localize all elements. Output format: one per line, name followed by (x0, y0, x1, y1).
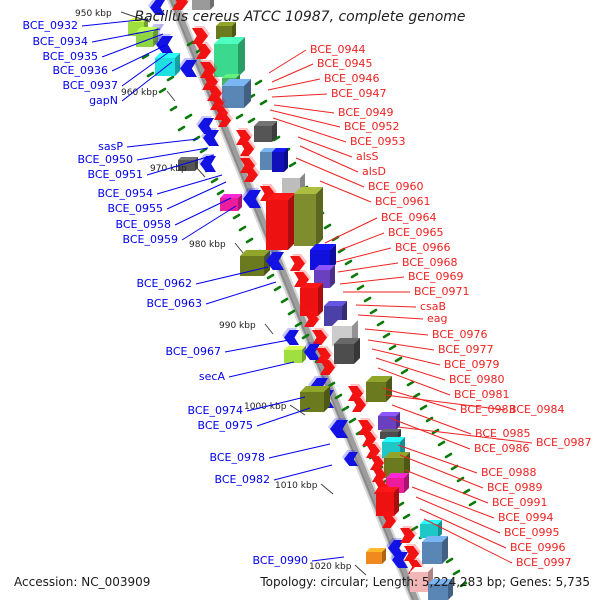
gene-label-right[interactable]: BCE_0991 (492, 496, 547, 509)
ruler-tick-label: 990 kbp (219, 321, 256, 331)
gene-label-left[interactable]: BCE_0978 (210, 451, 265, 464)
strand-tick-icon (346, 261, 351, 264)
gene-label-right-leader-line (365, 329, 428, 335)
gene-label-left[interactable]: BCE_0959 (123, 233, 178, 246)
strand-tick-icon (404, 515, 409, 518)
genome-summary-label: Topology: circular; Length: 5,224,283 bp… (259, 575, 590, 589)
strand-tick-icon (289, 311, 294, 314)
ruler-tick-label: 960 kbp (121, 88, 158, 98)
gene-label-left[interactable]: BCE_0974 (188, 404, 243, 417)
gene-label-left[interactable]: BCE_0934 (33, 35, 88, 48)
strand-tick-icon (256, 81, 261, 84)
genome-map-canvas: 950 kbp960 kbp970 kbp980 kbp990 kbp1000 … (0, 0, 600, 600)
ruler-tick-label: 950 kbp (75, 9, 112, 19)
gene-box-glyph[interactable] (294, 187, 323, 246)
strand-tick-icon (275, 287, 280, 290)
gene-label-right[interactable]: BCE_0964 (381, 211, 436, 224)
gene-label-right[interactable]: BCE_0969 (408, 270, 463, 283)
gene-box-glyph[interactable] (366, 376, 392, 402)
strand-tick-icon (249, 119, 254, 122)
strand-tick-icon (343, 407, 348, 410)
gene-label-right-leader-line (372, 349, 440, 365)
strand-tick-icon (282, 299, 287, 302)
gene-label-left[interactable]: gapN (89, 94, 118, 107)
gene-label-right[interactable]: BCE_0989 (487, 481, 542, 494)
gene-label-right-leader-line (296, 158, 364, 187)
strand-tick-icon (396, 358, 401, 361)
strand-tick-icon (464, 490, 469, 493)
strand-tick-icon (168, 77, 173, 80)
gene-label-right[interactable]: BCE_0961 (375, 195, 430, 208)
strand-tick-icon (186, 115, 191, 118)
strand-tick-icon (402, 370, 407, 373)
gene-arrow-glyph[interactable] (290, 254, 307, 271)
map-title: Bacillus cereus ATCC 10987, complete gen… (134, 9, 465, 25)
gene-label-right[interactable]: BCE_0985 (475, 427, 530, 440)
gene-label-left-leader-line (225, 340, 289, 352)
strand-tick-icon (390, 346, 395, 349)
gene-label-left[interactable]: BCE_0935 (43, 50, 98, 63)
gene-label-left-leader-line (182, 206, 236, 240)
strand-tick-icon (212, 179, 217, 182)
gene-label-left[interactable]: BCE_0982 (215, 473, 270, 486)
gene-label-right[interactable]: BCE_0987 (536, 436, 591, 449)
gene-label-right[interactable]: BCE_0960 (368, 180, 423, 193)
strand-tick-icon (148, 73, 153, 76)
gene-label-left-leader-line (274, 465, 332, 480)
ruler-leader-line (355, 565, 366, 575)
gene-arrow-glyph[interactable] (192, 26, 210, 44)
gene-label-right[interactable]: BCE_0976 (432, 328, 487, 341)
gene-label-right-leader-line (298, 137, 352, 157)
gene-box-glyph[interactable] (300, 386, 330, 412)
gene-label-left[interactable]: BCE_0967 (166, 345, 221, 358)
gene-label-left-leader-line (206, 282, 276, 304)
strand-tick-icon (234, 215, 239, 218)
gene-label-right-leader-line (272, 94, 327, 97)
gene-arrow-glyph[interactable] (352, 396, 368, 412)
gene-label-right[interactable]: BCE_0971 (414, 285, 469, 298)
gene-box-glyph[interactable] (214, 37, 245, 77)
gene-label-right[interactable]: BCE_0988 (481, 466, 536, 479)
strand-tick-icon (371, 310, 376, 313)
gene-label-right-leader-line (358, 315, 423, 319)
gene-box-glyph[interactable] (254, 121, 277, 142)
gene-label-left-leader-line (175, 198, 231, 225)
strand-tick-icon (261, 101, 266, 104)
gene-label-left[interactable]: BCE_0963 (147, 297, 202, 310)
gene-label-left-leader-line (269, 444, 330, 458)
strand-tick-icon (179, 127, 184, 130)
gene-label-right-leader-line (368, 340, 434, 350)
gene-box-glyph[interactable] (220, 194, 242, 211)
gene-label-left[interactable]: BCE_0937 (63, 79, 118, 92)
gene-label-left[interactable]: BCE_0950 (78, 153, 133, 166)
strand-tick-icon (358, 286, 363, 289)
gene-label-left-leader-line (229, 362, 294, 377)
strand-tick-icon (350, 419, 355, 422)
gene-label-right-leader-line (340, 233, 384, 250)
gene-box-glyph[interactable] (222, 79, 251, 108)
strand-tick-icon (378, 322, 383, 325)
gene-label-right[interactable]: alsD (362, 165, 386, 178)
gene-box-glyph[interactable] (284, 346, 306, 363)
strand-tick-icon (352, 274, 357, 277)
gene-label-right[interactable]: BCE_0944 (310, 43, 365, 56)
strand-tick-icon (439, 442, 444, 445)
gene-arrow-glyph[interactable] (240, 140, 256, 156)
strand-tick-icon (160, 89, 165, 92)
gene-label-right[interactable]: BCE_0947 (331, 87, 386, 100)
gene-label-right[interactable]: BCE_0953 (350, 135, 405, 148)
gene-label-right[interactable]: BCE_0979 (444, 358, 499, 371)
gene-label-left[interactable]: BCE_0975 (198, 419, 253, 432)
strand-tick-icon (414, 394, 419, 397)
gene-label-right[interactable]: BCE_0984 (509, 403, 564, 416)
ruler-tick-label: 1020 kbp (309, 562, 352, 572)
ruler-leader-line (321, 484, 333, 494)
strand-tick-icon (447, 559, 452, 562)
gene-label-right-leader-line (272, 64, 313, 82)
gene-box-glyph[interactable] (422, 536, 448, 564)
gene-label-right-leader-line (340, 277, 404, 284)
strand-tick-icon (421, 406, 426, 409)
accession-label: Accession: NC_003909 (14, 575, 150, 589)
strand-tick-icon (247, 239, 252, 242)
strand-tick-icon (384, 334, 389, 337)
gene-label-right[interactable]: BCE_0994 (498, 511, 553, 524)
strand-tick-icon (268, 275, 273, 278)
gene-label-right-leader-line (274, 105, 334, 113)
gene-label-right-leader-line (356, 305, 416, 307)
ruler-leader-line (235, 243, 243, 253)
gene-label-left[interactable]: BCE_0990 (253, 554, 308, 567)
strand-tick-icon (470, 502, 475, 505)
gene-label-left[interactable]: BCE_0955 (108, 202, 163, 215)
gene-label-left[interactable]: BCE_0932 (23, 19, 78, 32)
gene-box-glyph[interactable] (334, 338, 360, 364)
strand-tick-icon (454, 571, 459, 574)
gene-label-left[interactable]: BCE_0954 (98, 187, 153, 200)
gene-label-left[interactable]: sasP (98, 140, 123, 153)
strand-tick-icon (290, 163, 295, 166)
strand-tick-icon (365, 298, 370, 301)
gene-label-right[interactable]: BCE_0981 (454, 388, 509, 401)
strand-tick-icon (171, 107, 176, 110)
gene-label-right[interactable]: BCE_0997 (516, 556, 571, 569)
genome-map-svg[interactable]: 950 kbp960 kbp970 kbp980 kbp990 kbp1000 … (0, 0, 600, 600)
gene-arrow-glyph[interactable] (178, 58, 197, 77)
gene-label-right[interactable]: BCE_0996 (510, 541, 565, 554)
gene-label-right[interactable]: BCE_0995 (504, 526, 559, 539)
gene-label-left[interactable]: secA (199, 370, 226, 383)
gene-label-right[interactable]: BCE_0977 (438, 343, 493, 356)
gene-label-right[interactable]: eag (427, 312, 448, 325)
gene-label-left[interactable]: BCE_0951 (88, 168, 143, 181)
gene-label-right[interactable]: BCE_0968 (402, 256, 457, 269)
gene-label-right[interactable]: BCE_0949 (338, 106, 393, 119)
strand-tick-icon (408, 382, 413, 385)
strand-tick-icon (240, 227, 245, 230)
gene-label-right[interactable]: alsS (356, 150, 379, 163)
gene-box-glyph[interactable] (376, 487, 399, 516)
gene-label-left[interactable]: BCE_0962 (137, 277, 192, 290)
gene-label-left[interactable]: BCE_0936 (53, 64, 108, 77)
ruler-tick-label: 1010 kbp (275, 481, 318, 491)
gene-label-right[interactable]: BCE_0965 (388, 226, 443, 239)
strand-tick-icon (237, 115, 242, 118)
gene-label-right[interactable]: BCE_0945 (317, 57, 372, 70)
ruler-leader-line (167, 91, 175, 101)
gene-label-right[interactable]: BCE_0946 (324, 72, 379, 85)
strand-tick-icon (218, 191, 223, 194)
gene-label-left-leader-line (127, 139, 198, 147)
gene-box-glyph[interactable] (366, 548, 386, 564)
gene-label-right[interactable]: BCE_0952 (344, 120, 399, 133)
ruler-leader-line (265, 324, 273, 334)
gene-box-glyph[interactable] (272, 148, 288, 172)
gene-label-right-leader-line (273, 118, 346, 142)
gene-label-right[interactable]: BCE_0980 (449, 373, 504, 386)
strand-tick-icon (446, 454, 451, 457)
strand-tick-icon (325, 225, 330, 228)
gene-box-glyph[interactable] (266, 193, 295, 250)
gene-arrow-glyph[interactable] (282, 328, 299, 345)
ruler-tick-label: 980 kbp (189, 240, 226, 250)
gene-label-right[interactable]: BCE_0966 (395, 241, 450, 254)
gene-label-right-leader-line (320, 181, 371, 202)
gene-label-left-leader-line (157, 175, 222, 194)
gene-label-left-leader-line (312, 557, 344, 561)
strand-tick-icon (452, 466, 457, 469)
gene-label-right-leader-line (300, 146, 358, 172)
gene-label-left[interactable]: BCE_0958 (116, 218, 171, 231)
gene-label-right[interactable]: BCE_0986 (474, 442, 529, 455)
